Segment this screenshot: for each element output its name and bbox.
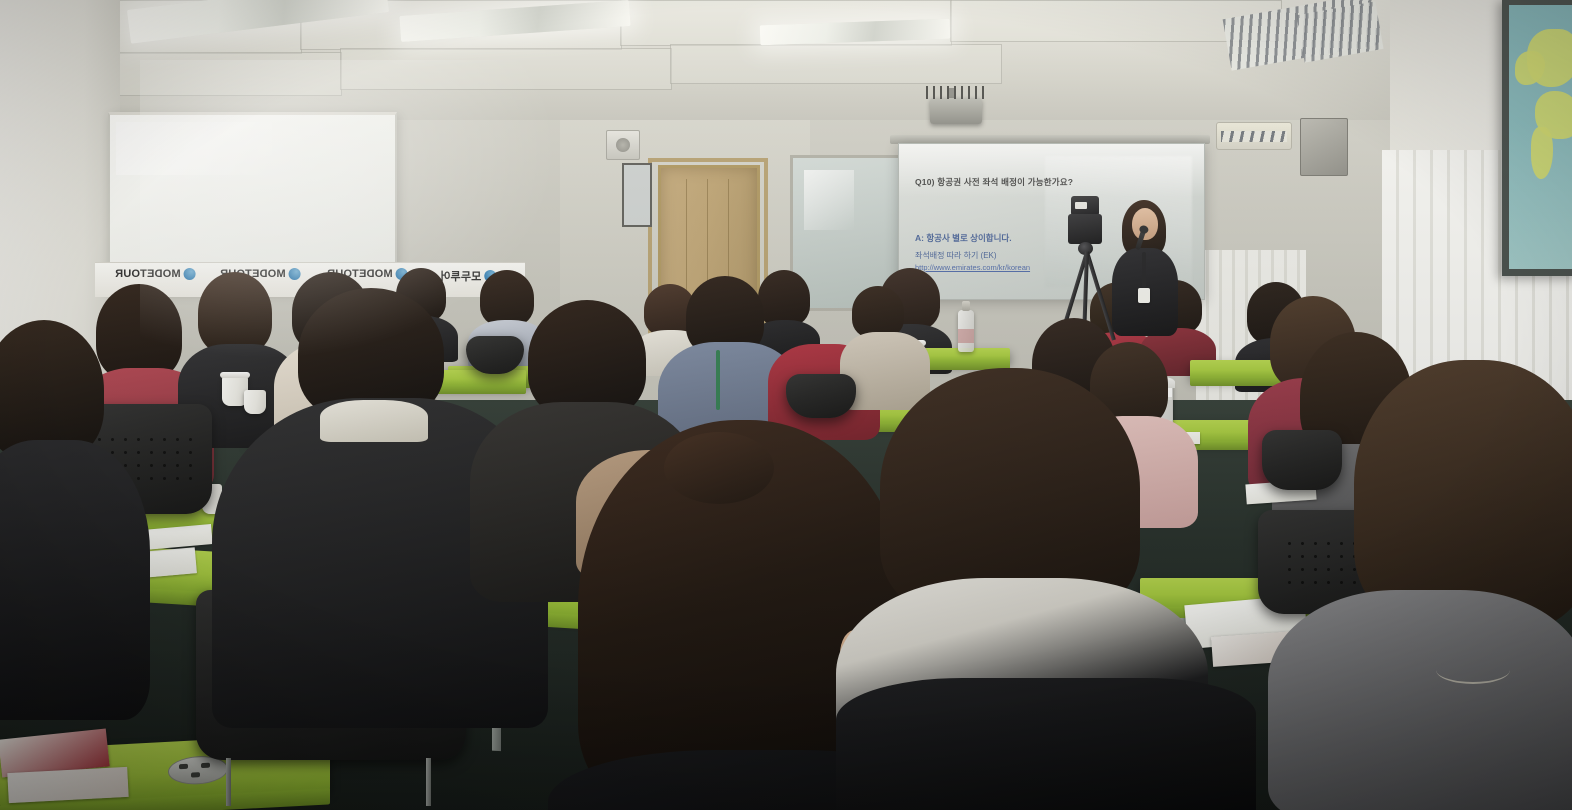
- slide-question: Q10) 항공권 사전 좌석 배정이 가능한가요?: [915, 176, 1073, 188]
- chair[interactable]: [1262, 430, 1342, 490]
- chair[interactable]: [466, 336, 524, 374]
- video-camera: [1071, 196, 1099, 216]
- wall-speaker: [606, 130, 640, 160]
- chair[interactable]: [786, 374, 856, 418]
- modetour-logo: MODETOUR: [115, 268, 196, 280]
- modetour-logo-text-korean: 모두투어: [440, 268, 481, 284]
- presenter-face: [1132, 208, 1158, 240]
- modetour-logo-text: MODETOUR: [115, 268, 181, 280]
- attendee-collar: [320, 400, 428, 442]
- paper-cup: [244, 390, 266, 414]
- water-bottle: [958, 310, 974, 352]
- seminar-room-photo: MODETOUR MODETOUR MODETOUR 모두투어: [0, 0, 1572, 810]
- attendee-bun: [664, 432, 774, 504]
- necklace: [1436, 656, 1510, 684]
- ceiling-speaker: [1300, 118, 1348, 176]
- slide-subnote: 좌석배정 따라 하기 (EK): [915, 250, 997, 261]
- modetour-logo-mark: [184, 268, 196, 280]
- slide-url[interactable]: http://www.emirates.com/kr/korean: [915, 263, 1030, 272]
- modetour-logo-mark: [289, 268, 301, 280]
- brochure: [7, 767, 128, 803]
- presenter-badge: [1138, 288, 1150, 303]
- attendee-lanyard: [716, 350, 720, 410]
- air-conditioner-unit: [1216, 122, 1292, 150]
- slide-answer: A: 항공사 별로 상이합니다.: [915, 232, 1012, 244]
- presenter-lanyard: [1142, 252, 1146, 288]
- ceiling-projector: [930, 98, 982, 124]
- framed-picture: [622, 163, 652, 227]
- world-map-poster: [1502, 0, 1572, 276]
